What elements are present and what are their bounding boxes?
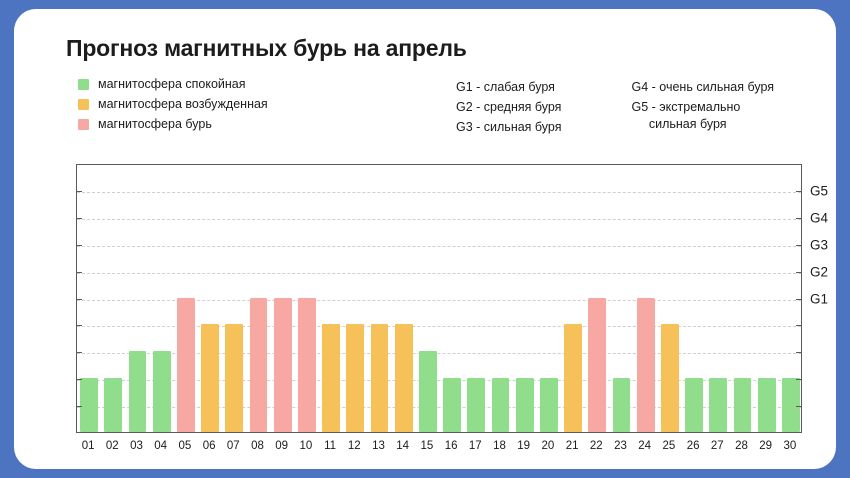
x-axis-tick-label: 30 (783, 440, 796, 452)
x-axis-tick-label: 03 (130, 440, 143, 452)
y-axis-tick-mark (76, 325, 82, 326)
chart-plot-area (76, 164, 802, 433)
x-axis-tick-label: 18 (493, 440, 506, 452)
y-axis-tick-mark (76, 352, 82, 353)
chart-bar[interactable] (177, 298, 195, 433)
x-axis-tick-label: 04 (154, 440, 167, 452)
x-axis-tick-label: 12 (348, 440, 361, 452)
x-axis-tick-label: 28 (735, 440, 748, 452)
chart-plot-inner (77, 165, 801, 432)
g-scale-legend-entry: G2 - средняя буря (456, 99, 562, 116)
legend-item: магнитосфера бурь (78, 115, 268, 133)
right-axis-tick-label: G3 (810, 237, 828, 252)
x-axis-tick-label: 02 (106, 440, 119, 452)
chart-bar[interactable] (685, 378, 703, 432)
chart-bar[interactable] (782, 378, 800, 432)
y-axis-tick-mark (76, 218, 82, 219)
y-axis-tick-mark-right (796, 218, 802, 219)
chart-bar[interactable] (322, 324, 340, 432)
chart-bar[interactable] (709, 378, 727, 432)
chart-bar[interactable] (371, 324, 389, 432)
gridline (77, 273, 801, 274)
chart-bar[interactable] (492, 378, 510, 432)
chart-bar[interactable] (758, 378, 776, 432)
y-axis-tick-mark-right (796, 272, 802, 273)
y-axis-tick-mark-right (796, 379, 802, 380)
x-axis-tick-label: 27 (711, 440, 724, 452)
chart-bar[interactable] (419, 351, 437, 432)
x-axis-tick-label: 15 (420, 440, 433, 452)
legend-swatch-icon (78, 119, 89, 130)
chart-bar[interactable] (104, 378, 122, 432)
x-axis-tick-label: 14 (396, 440, 409, 452)
chart-card: Прогноз магнитных бурь на апрель магнито… (14, 9, 836, 469)
y-axis-tick-mark (76, 245, 82, 246)
g-scale-legend-column-2: G4 - очень сильная буряG5 - экстремально… (632, 79, 775, 139)
chart-bar[interactable] (250, 298, 268, 433)
right-axis-tick-label: G5 (810, 183, 828, 198)
chart-bar[interactable] (734, 378, 752, 432)
right-axis-tick-label: G2 (810, 264, 828, 279)
legend-item-label: магнитосфера спокойная (98, 77, 246, 91)
chart-bar[interactable] (588, 298, 606, 433)
x-axis-tick-label: 09 (275, 440, 288, 452)
chart-bar[interactable] (613, 378, 631, 432)
y-axis-tick-mark (76, 379, 82, 380)
y-axis-tick-mark (76, 191, 82, 192)
chart-bar[interactable] (564, 324, 582, 432)
gridline (77, 246, 801, 247)
x-axis-tick-label: 05 (178, 440, 191, 452)
x-axis-tick-label: 11 (324, 440, 336, 452)
chart-bar[interactable] (201, 324, 219, 432)
chart-bar[interactable] (516, 378, 534, 432)
chart-bar[interactable] (80, 378, 98, 432)
legend-item: магнитосфера возбужденная (78, 95, 268, 113)
y-axis-tick-mark-right (796, 299, 802, 300)
legend-item-label: магнитосфера возбужденная (98, 97, 268, 111)
y-axis-tick-mark (76, 272, 82, 273)
chart-bar[interactable] (443, 378, 461, 432)
x-axis-tick-label: 23 (614, 440, 627, 452)
x-axis-tick-label: 10 (299, 440, 312, 452)
g-scale-legend-entry: G5 - экстремально сильная буря (632, 99, 775, 133)
right-axis-tick-label: G4 (810, 210, 828, 225)
g-scale-legend-entry: G4 - очень сильная буря (632, 79, 775, 96)
x-axis-tick-label: 29 (759, 440, 772, 452)
chart-bar[interactable] (346, 324, 364, 432)
x-axis-tick-label: 01 (82, 440, 95, 452)
legend-swatch-icon (78, 99, 89, 110)
x-axis-tick-label: 19 (517, 440, 530, 452)
chart-bar[interactable] (225, 324, 243, 432)
x-axis-tick-label: 21 (566, 440, 579, 452)
gridline (77, 219, 801, 220)
g-scale-legend-column-1: G1 - слабая буряG2 - средняя буряG3 - си… (456, 79, 562, 139)
chart-bar[interactable] (540, 378, 558, 432)
y-axis-tick-mark (76, 406, 82, 407)
gridline (77, 192, 801, 193)
legend: магнитосфера спокойнаямагнитосфера возбу… (78, 75, 268, 135)
y-axis-tick-mark-right (796, 406, 802, 407)
g-scale-legend-entry: G1 - слабая буря (456, 79, 562, 96)
x-axis-tick-label: 22 (590, 440, 603, 452)
y-axis-tick-mark-right (796, 352, 802, 353)
g-scale-legend: G1 - слабая буряG2 - средняя буряG3 - си… (456, 79, 774, 139)
x-axis-tick-label: 20 (541, 440, 554, 452)
x-axis-tick-label: 13 (372, 440, 385, 452)
chart-bar[interactable] (467, 378, 485, 432)
y-axis-tick-mark (76, 299, 82, 300)
y-axis-tick-mark-right (796, 191, 802, 192)
chart-bar[interactable] (153, 351, 171, 432)
page-title: Прогноз магнитных бурь на апрель (66, 35, 467, 62)
chart-bar[interactable] (637, 298, 655, 433)
x-axis-tick-label: 07 (227, 440, 240, 452)
legend-item: магнитосфера спокойная (78, 75, 268, 93)
g-scale-legend-entry: G3 - сильная буря (456, 119, 562, 136)
x-axis-tick-label: 08 (251, 440, 264, 452)
chart-bar[interactable] (129, 351, 147, 432)
legend-item-label: магнитосфера бурь (98, 117, 212, 131)
x-axis-tick-label: 24 (638, 440, 651, 452)
x-axis-tick-label: 25 (662, 440, 675, 452)
x-axis-tick-label: 26 (687, 440, 700, 452)
chart-bar[interactable] (395, 324, 413, 432)
x-axis-tick-label: 17 (469, 440, 482, 452)
right-axis-tick-label: G1 (810, 291, 828, 306)
chart-bar[interactable] (661, 324, 679, 432)
y-axis-tick-mark-right (796, 325, 802, 326)
legend-swatch-icon (78, 79, 89, 90)
y-axis-tick-mark-right (796, 245, 802, 246)
chart-bar[interactable] (298, 298, 316, 433)
x-axis-tick-label: 06 (203, 440, 216, 452)
chart-bar[interactable] (274, 298, 292, 433)
x-axis-tick-label: 16 (445, 440, 458, 452)
